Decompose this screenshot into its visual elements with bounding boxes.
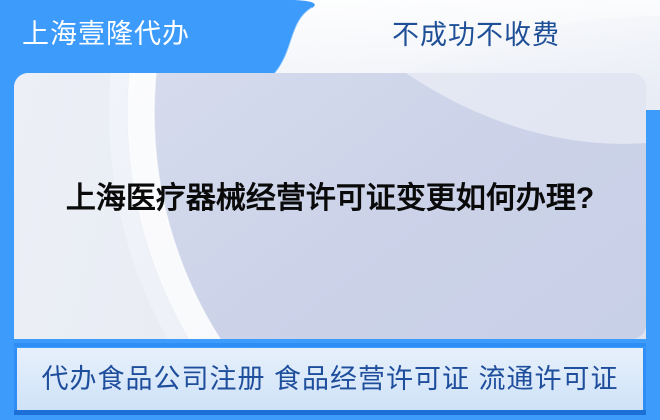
brand-title: 上海壹隆代办 (22, 18, 190, 50)
slogan-text: 不成功不收费 (392, 19, 560, 51)
footer-bottom-rule (14, 410, 646, 415)
footer-services-text: 代办食品公司注册 食品经营许可证 流通许可证 (41, 363, 618, 395)
footer-area: 代办食品公司注册 食品经营许可证 流通许可证 (0, 339, 660, 420)
page-headline: 上海医疗器械经营许可证变更如何办理? (14, 177, 646, 221)
footer-top-rule (14, 343, 646, 347)
main-card: 上海医疗器械经营许可证变更如何办理? (14, 73, 646, 339)
banner-canvas: 上海壹隆代办 不成功不收费 (0, 0, 660, 420)
footer-services-bar: 代办食品公司注册 食品经营许可证 流通许可证 (14, 348, 646, 410)
